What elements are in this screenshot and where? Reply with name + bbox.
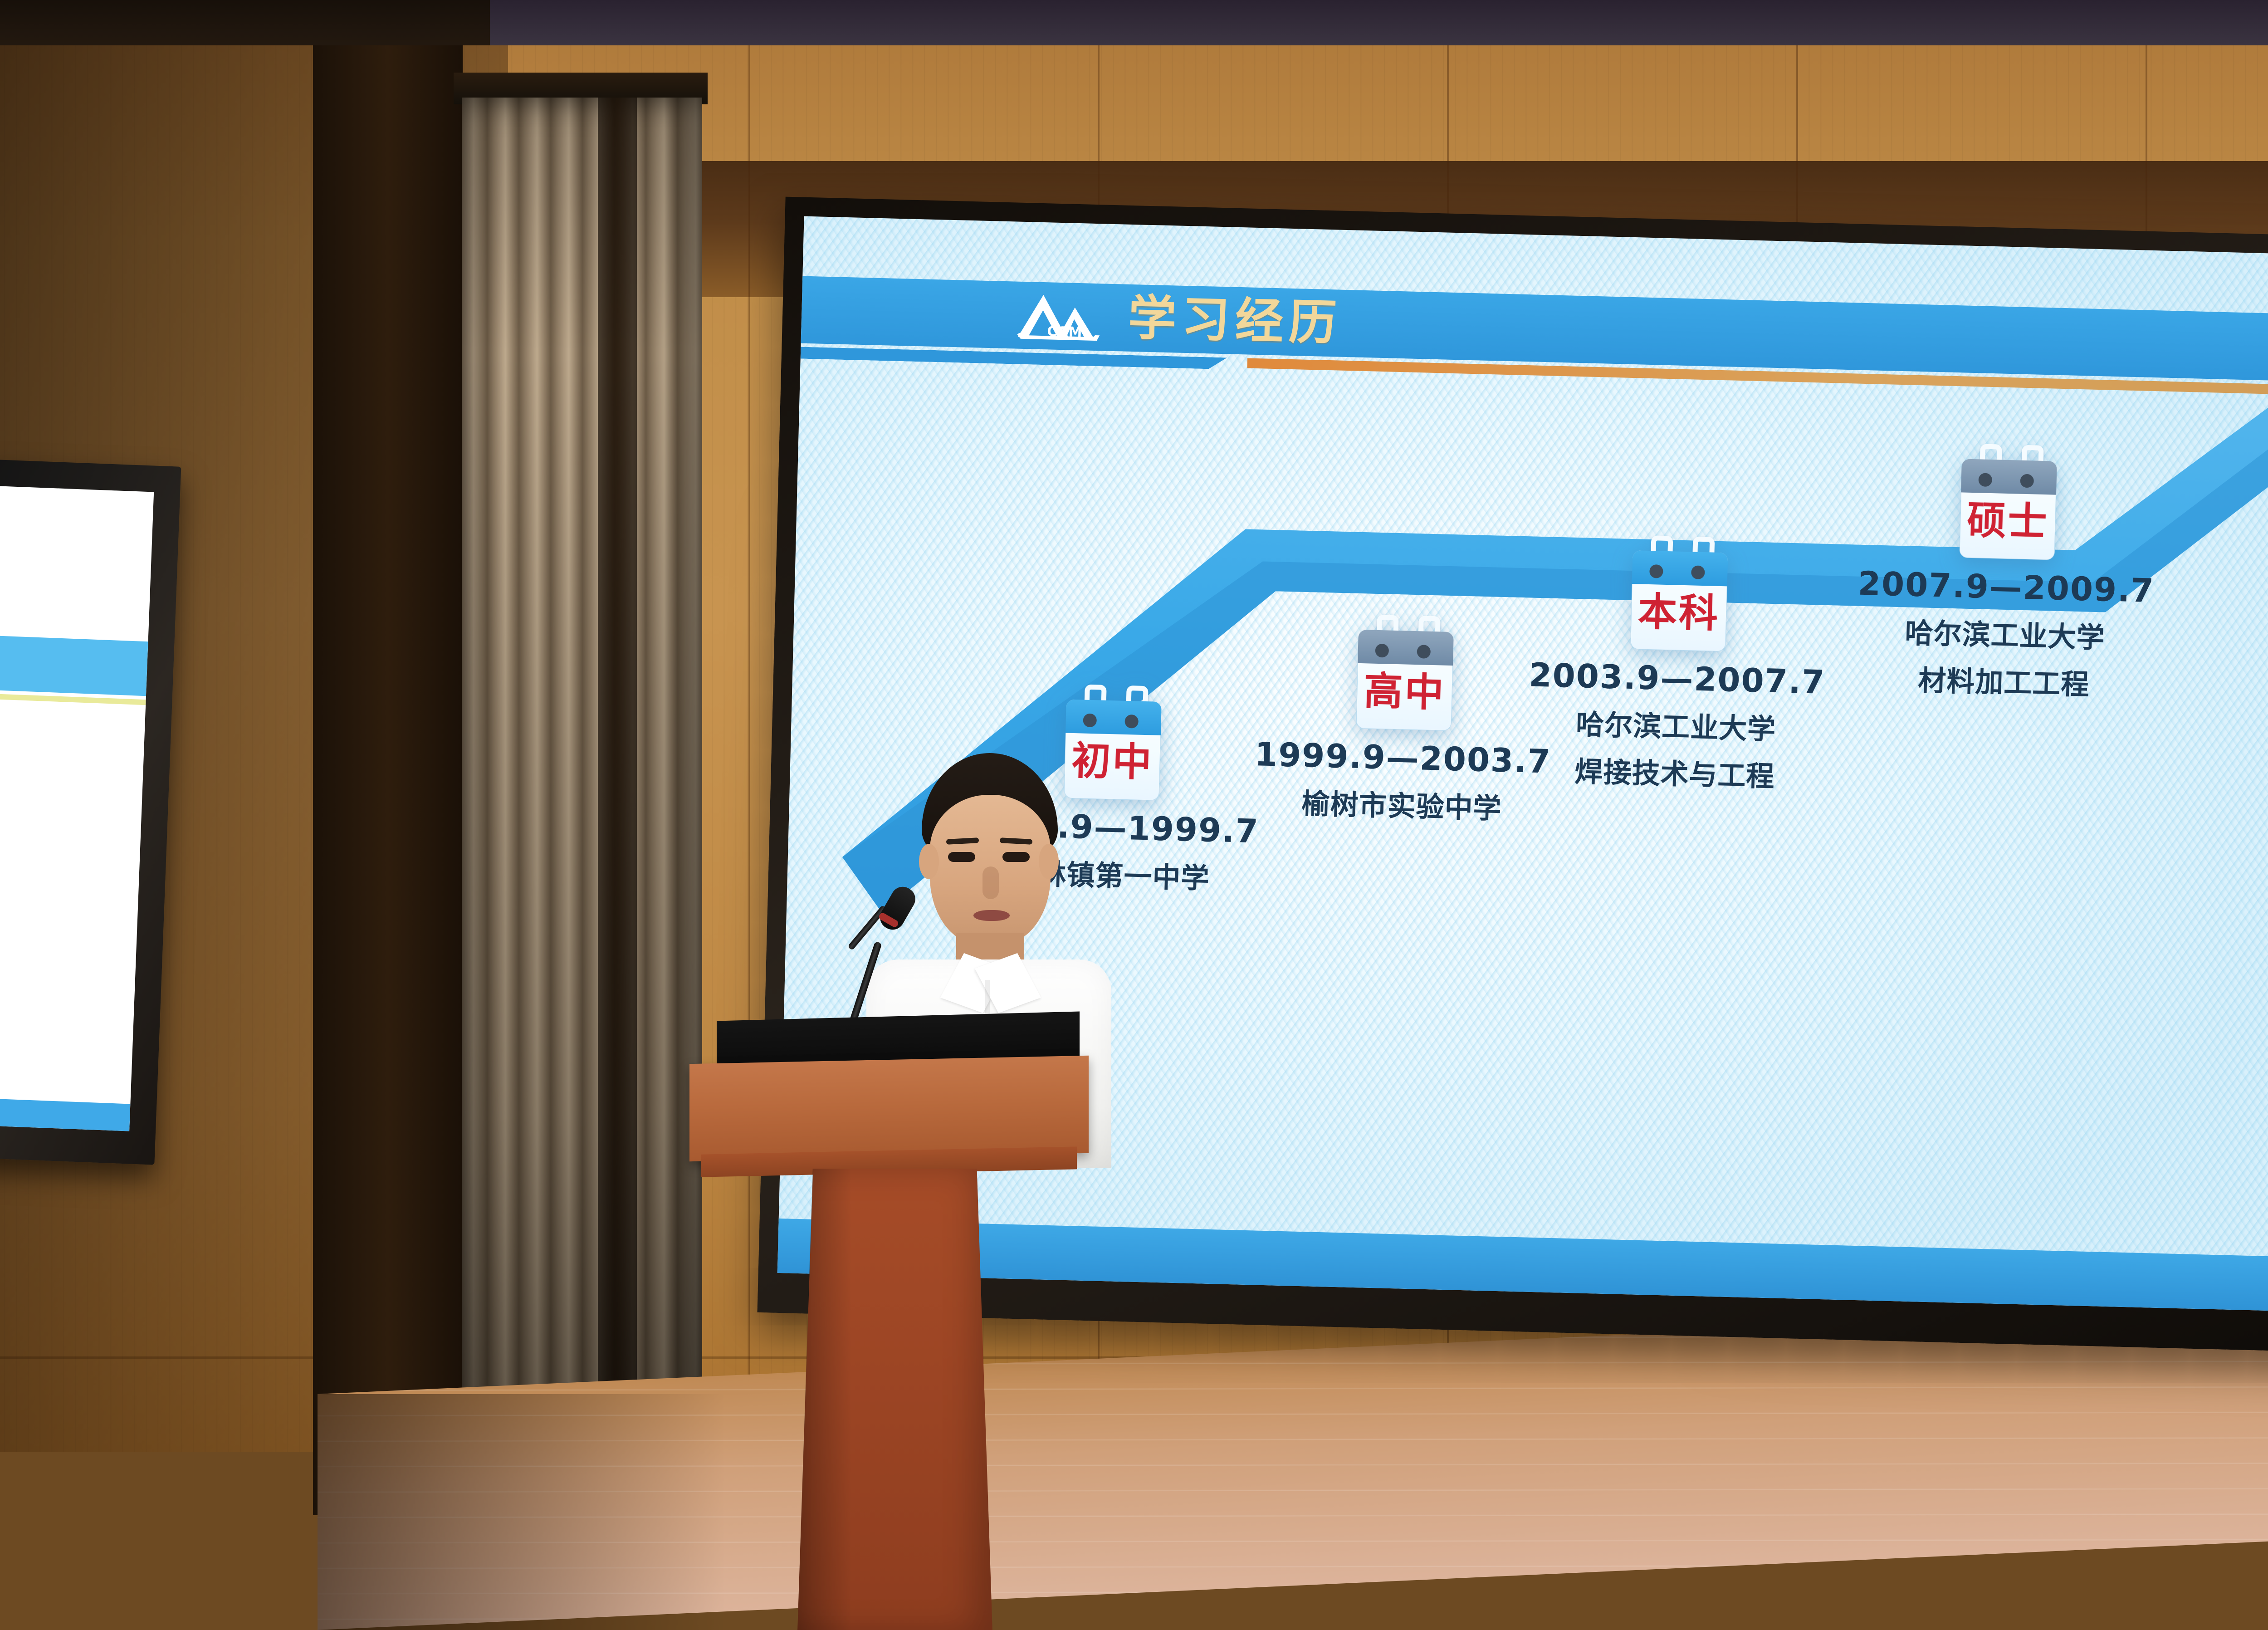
timeline-institution: 哈尔滨工业大学 <box>1832 608 2178 657</box>
calendar-icon: 本科 <box>1630 550 1728 651</box>
timeline-entry: 硕士 2007.9—2009.7 哈尔滨工业大学 材料加工工程 <box>1831 455 2182 705</box>
calendar-top-bar <box>1358 630 1454 666</box>
calendar-label: 本科 <box>1631 592 1727 633</box>
timeline-institution: 哈尔滨工业大学 <box>1517 700 1835 749</box>
curtain-shading <box>462 98 702 1513</box>
monitor-slide-footer-bar <box>0 1097 130 1131</box>
screenshot-stage: 3.7 学 <box>0 0 2268 1630</box>
speaker-ear-left <box>919 844 939 879</box>
calendar-top-bar <box>1066 700 1162 735</box>
floor-shadow <box>318 1394 726 1630</box>
calendar-label: 高中 <box>1356 671 1452 713</box>
podium-desktop <box>689 1056 1089 1161</box>
mountain-logo-icon: CAM <box>1014 289 1104 343</box>
wall-pilaster <box>313 45 463 1515</box>
podium-base-shading <box>797 1169 852 1630</box>
timeline-date: 1999.9—2003.7 <box>1244 735 1562 781</box>
calendar-top-bar <box>1961 459 2057 494</box>
calendar-label: 硕士 <box>1960 500 2056 542</box>
speaker-ear-right <box>1039 844 1059 879</box>
monitor-partial-date: 3.7 <box>0 820 1 868</box>
calendar-top-bar <box>1632 550 1728 586</box>
monitor-screen: 3.7 学 <box>0 485 154 1131</box>
svg-text:CAM: CAM <box>1047 323 1083 340</box>
timeline-institution: 榆树市实验中学 <box>1242 779 1561 828</box>
speaker-eye-left <box>948 852 975 862</box>
timeline-date: 2003.9—2007.7 <box>1518 656 1837 702</box>
side-confidence-monitor[interactable]: 3.7 学 <box>0 459 181 1165</box>
calendar-icon: 高中 <box>1356 630 1453 731</box>
slide-title: 学习经历 <box>1128 294 1343 348</box>
calendar-icon: 硕士 <box>1959 459 2057 560</box>
timeline-major: 焊接技术与工程 <box>1515 747 1834 796</box>
timeline-entry: 高中 1999.9—2003.7 榆树市实验中学 <box>1242 627 1565 828</box>
speaker-nose <box>982 866 999 899</box>
speaker-mouth <box>973 910 1010 921</box>
timeline-date: 2007.9—2009.7 <box>1833 563 2179 610</box>
monitor-slide-header-bar <box>0 635 148 696</box>
podium <box>689 1016 1089 1630</box>
timeline-major: 材料加工工程 <box>1831 655 2177 705</box>
speaker-eye-right <box>1002 852 1030 862</box>
timeline-entry: 本科 2003.9—2007.7 哈尔滨工业大学 焊接技术与工程 <box>1515 548 1839 796</box>
